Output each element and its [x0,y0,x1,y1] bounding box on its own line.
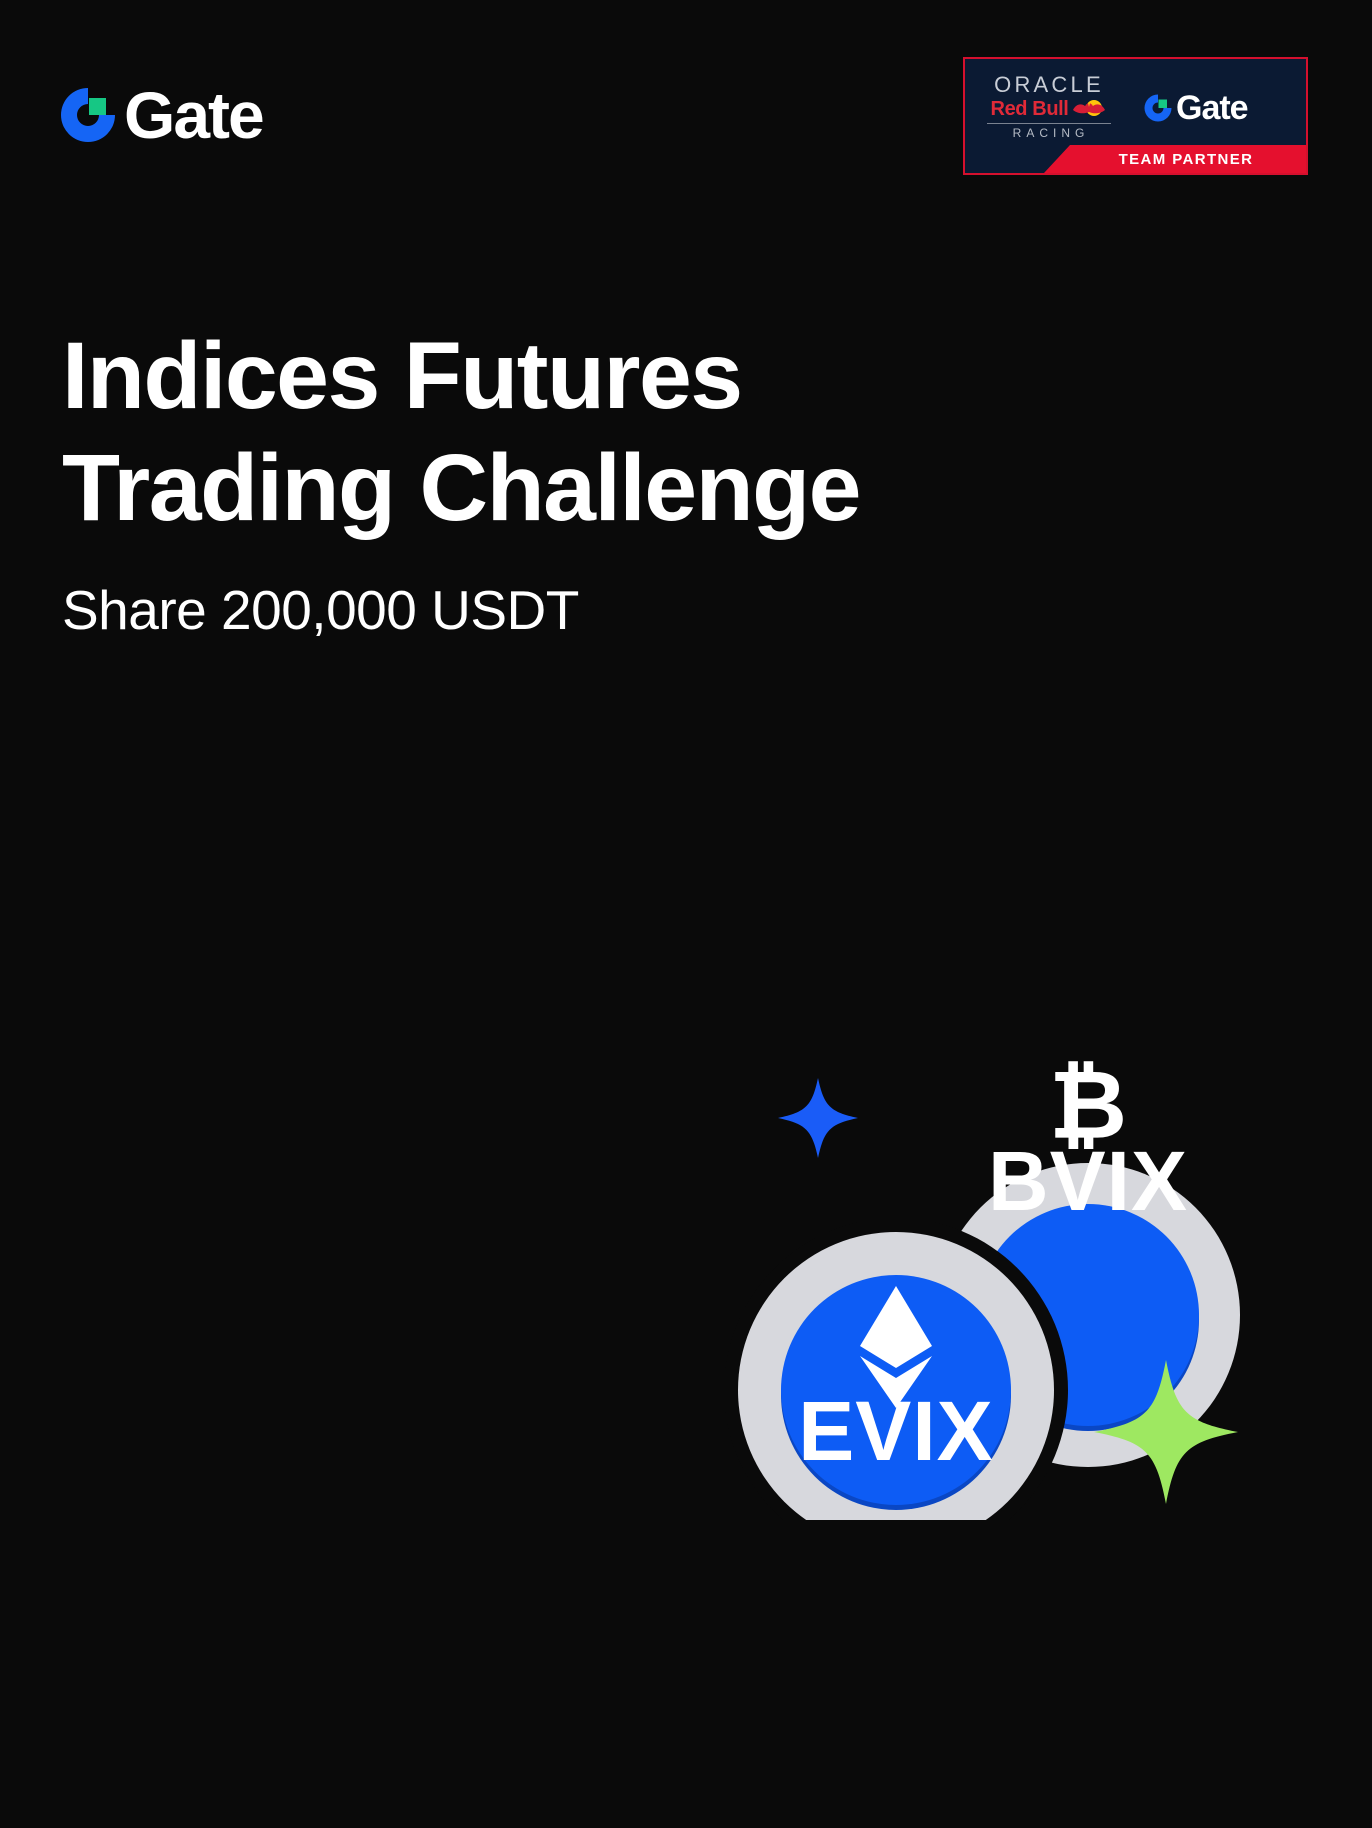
indices-coin-artwork: ₿ BVIX EVIX [700,960,1260,1520]
badge-divider [987,123,1111,124]
oracle-red-bull-racing-partner-badge: ORACLE Red Bull RACING [963,57,1308,175]
gate-logo-icon [1143,93,1173,123]
red-bull-racing-lockup: ORACLE Red Bull RACING [985,74,1113,139]
racing-label: RACING [985,127,1113,139]
hero-subtitle: Share 200,000 USDT [62,580,1062,641]
badge-gate-logo: Gate [1143,91,1248,125]
hero-text-block: Indices Futures Trading Challenge Share … [62,320,1062,641]
team-partner-banner: TEAM PARTNER [1044,145,1306,173]
red-bull-bulls-icon [1071,99,1107,119]
red-bull-label: Red Bull [991,99,1069,119]
badge-gate-wordmark: Gate [1176,91,1248,125]
oracle-label: ORACLE [985,74,1113,96]
team-partner-label: TEAM PARTNER [1097,151,1254,168]
gate-wordmark: Gate [124,82,263,148]
blue-sparkle-icon [778,1078,858,1158]
coin-evix-ticker: EVIX [798,1384,993,1478]
gate-brand-logo: Gate [58,82,263,148]
coin-bvix-ticker: BVIX [988,1134,1188,1228]
gate-logo-icon [58,85,118,145]
page-title: Indices Futures Trading Challenge [62,320,1062,544]
